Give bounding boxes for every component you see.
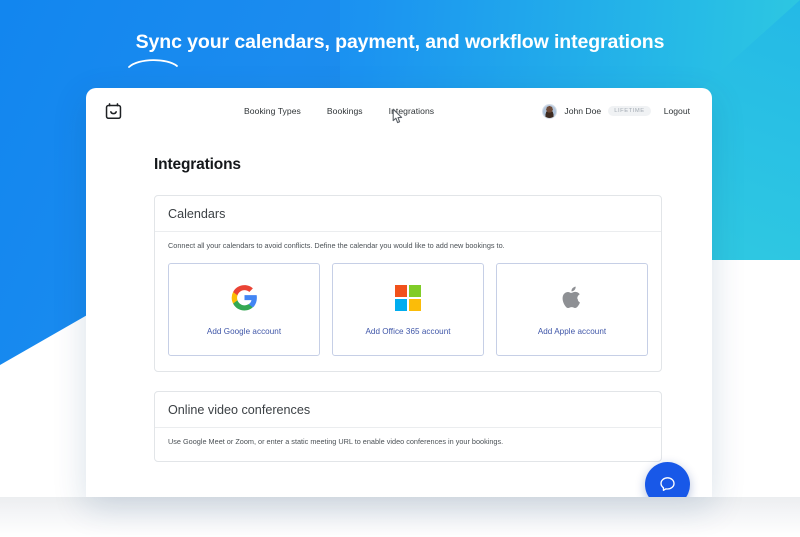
app-navbar: Booking Types Bookings Integrations John… xyxy=(86,88,712,134)
tile-label-apple: Add Apple account xyxy=(538,327,606,336)
user-avatar[interactable] xyxy=(542,104,557,119)
apple-logo-icon xyxy=(560,283,584,313)
plan-badge-lifetime: LIFETIME xyxy=(608,106,651,117)
panel-video-title: Online video conferences xyxy=(168,403,648,417)
panel-video-description: Use Google Meet or Zoom, or enter a stat… xyxy=(155,428,661,461)
navbar-links: Booking Types Bookings Integrations xyxy=(244,106,434,116)
page-title: Integrations xyxy=(154,156,662,174)
app-window-card: Booking Types Bookings Integrations John… xyxy=(86,88,712,497)
hero-headline: Sync your calendars, payment, and workfl… xyxy=(0,31,800,54)
panel-calendars-description: Connect all your calendars to avoid conf… xyxy=(155,232,661,251)
background-bottom-sheet xyxy=(0,497,800,537)
curved-underline-swoosh-icon xyxy=(127,55,179,69)
calendar-provider-tiles: Add Google account Add Office 365 accoun… xyxy=(155,251,661,371)
logout-link[interactable]: Logout xyxy=(664,106,690,116)
page-body: Integrations Calendars Connect all your … xyxy=(86,134,712,462)
panel-calendars-title: Calendars xyxy=(168,207,648,221)
panel-calendars: Calendars Connect all your calendars to … xyxy=(154,195,662,372)
tile-label-office365: Add Office 365 account xyxy=(365,327,450,336)
panel-calendars-header: Calendars xyxy=(155,196,661,232)
tile-add-office365-account[interactable]: Add Office 365 account xyxy=(332,263,484,356)
panel-video-header: Online video conferences xyxy=(155,392,661,428)
nav-link-bookings[interactable]: Bookings xyxy=(327,106,363,116)
navbar-user-area: John Doe LIFETIME Logout xyxy=(542,104,690,119)
tile-add-google-account[interactable]: Add Google account xyxy=(168,263,320,356)
tile-label-google: Add Google account xyxy=(207,327,281,336)
microsoft-square-green xyxy=(409,285,421,297)
google-logo-icon xyxy=(231,283,258,313)
microsoft-square-red xyxy=(395,285,407,297)
nav-link-booking-types[interactable]: Booking Types xyxy=(244,106,301,116)
screenshot-root: Sync your calendars, payment, and workfl… xyxy=(0,0,800,537)
microsoft-square-blue xyxy=(395,299,407,311)
microsoft-square-yellow xyxy=(409,299,421,311)
microsoft-logo-icon xyxy=(395,283,422,313)
user-name-label: John Doe xyxy=(564,106,601,116)
calendar-smile-icon[interactable] xyxy=(102,100,124,122)
panel-online-video-conferences: Online video conferences Use Google Meet… xyxy=(154,391,662,462)
chat-widget-button[interactable] xyxy=(645,462,690,497)
chat-bubble-icon xyxy=(658,475,677,494)
nav-link-integrations[interactable]: Integrations xyxy=(389,106,435,116)
tile-add-apple-account[interactable]: Add Apple account xyxy=(496,263,648,356)
